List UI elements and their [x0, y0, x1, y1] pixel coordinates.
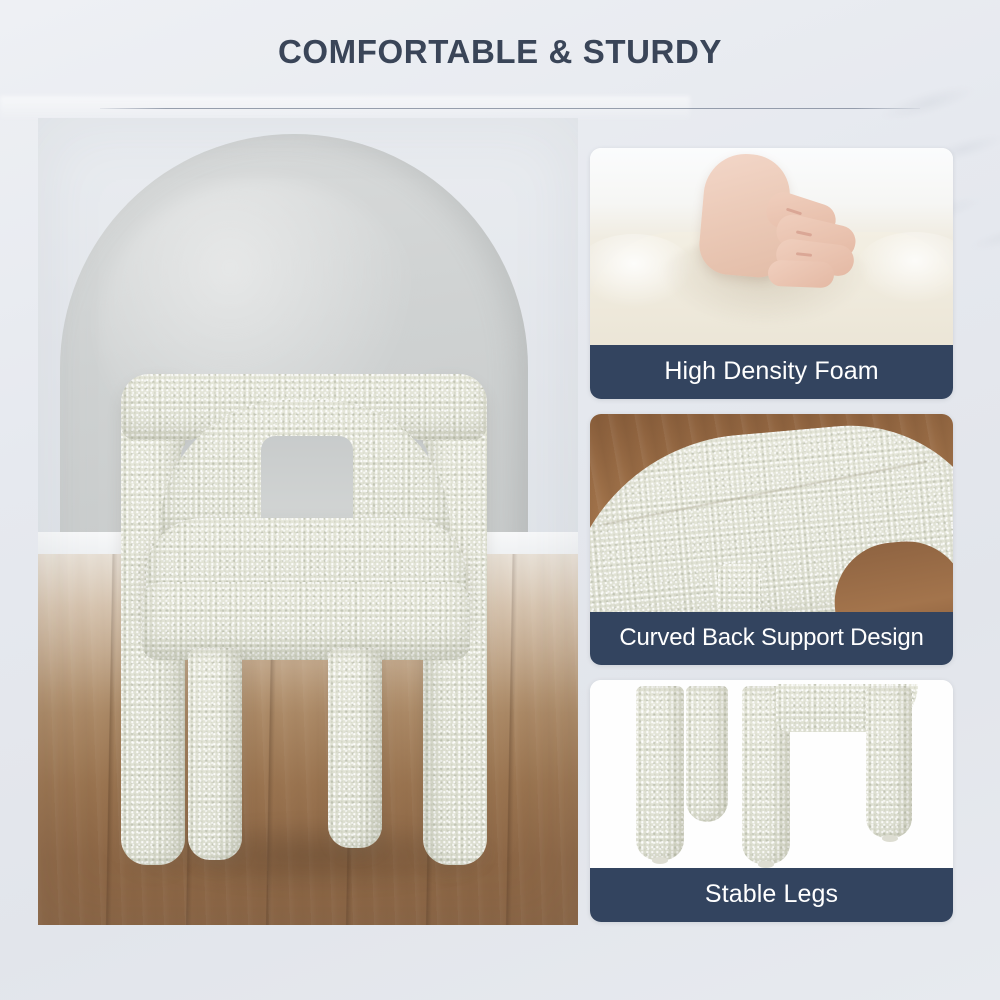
- stable-legs-photo: [590, 680, 953, 868]
- feature-panel-curved-back-support[interactable]: Curved Back Support Design: [590, 414, 953, 665]
- feature-caption-high-density-foam: High Density Foam: [590, 345, 953, 399]
- hero-product-image: [38, 118, 578, 925]
- leg-back-left: [686, 686, 728, 822]
- back-support-post: [718, 564, 760, 612]
- feature-caption-curved-back-support: Curved Back Support Design: [590, 612, 953, 665]
- leg-glide-2: [758, 861, 774, 868]
- hand-finger-little: [768, 260, 835, 288]
- foam-press-photo: [590, 148, 953, 345]
- leg-glide-3: [882, 835, 898, 842]
- header: COMFORTABLE & STURDY: [0, 34, 1000, 70]
- page-title: COMFORTABLE & STURDY: [0, 34, 1000, 70]
- hero-vignette: [38, 118, 578, 925]
- feature-panel-high-density-foam[interactable]: High Density Foam: [590, 148, 953, 399]
- leg-front-right: [866, 686, 912, 838]
- header-divider: [100, 108, 920, 109]
- leg-glide-1: [652, 857, 668, 864]
- leg-front-left: [636, 686, 684, 860]
- feature-panel-list: High Density Foam Curved Back Support De…: [590, 148, 953, 922]
- feature-panel-stable-legs[interactable]: Stable Legs: [590, 680, 953, 922]
- curved-back-photo: [590, 414, 953, 612]
- feature-caption-stable-legs: Stable Legs: [590, 868, 953, 922]
